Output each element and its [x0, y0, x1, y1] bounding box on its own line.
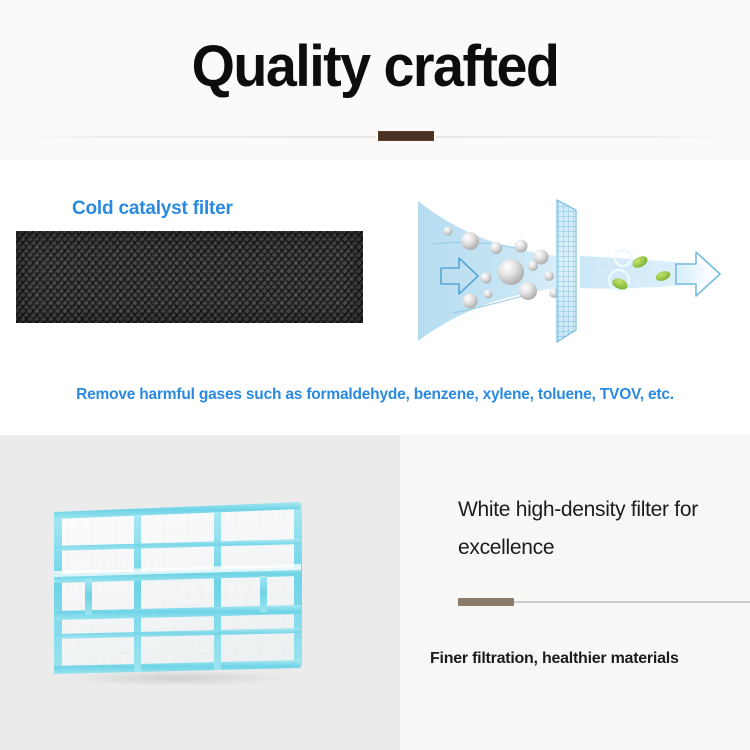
airflow-diagram: [408, 196, 738, 346]
cold-catalyst-section: Cold catalyst filter: [0, 160, 750, 432]
white-filter-heading: White high-density filter for excellence: [458, 491, 748, 567]
product-detail-page: Quality crafted Cold catalyst filter: [0, 0, 750, 750]
page-title: Quality crafted: [15, 36, 735, 98]
cold-catalyst-caption: Remove harmful gases such as formaldehyd…: [0, 386, 750, 404]
white-filter-accent-bar: [458, 598, 514, 606]
honeycomb-filter-image: [16, 231, 363, 323]
white-filter-photo: [48, 501, 308, 691]
white-filter-section: White high-density filter for excellence…: [0, 435, 750, 750]
white-filter-text-panel: White high-density filter for excellence…: [400, 435, 750, 750]
header-accent-bar: [378, 131, 434, 141]
cold-catalyst-title: Cold catalyst filter: [72, 198, 233, 220]
page-header: Quality crafted: [0, 0, 750, 160]
white-filter-photo-panel: [0, 435, 400, 750]
white-filter-subtext: Finer filtration, healthier materials: [430, 650, 750, 668]
header-divider: [28, 136, 722, 138]
